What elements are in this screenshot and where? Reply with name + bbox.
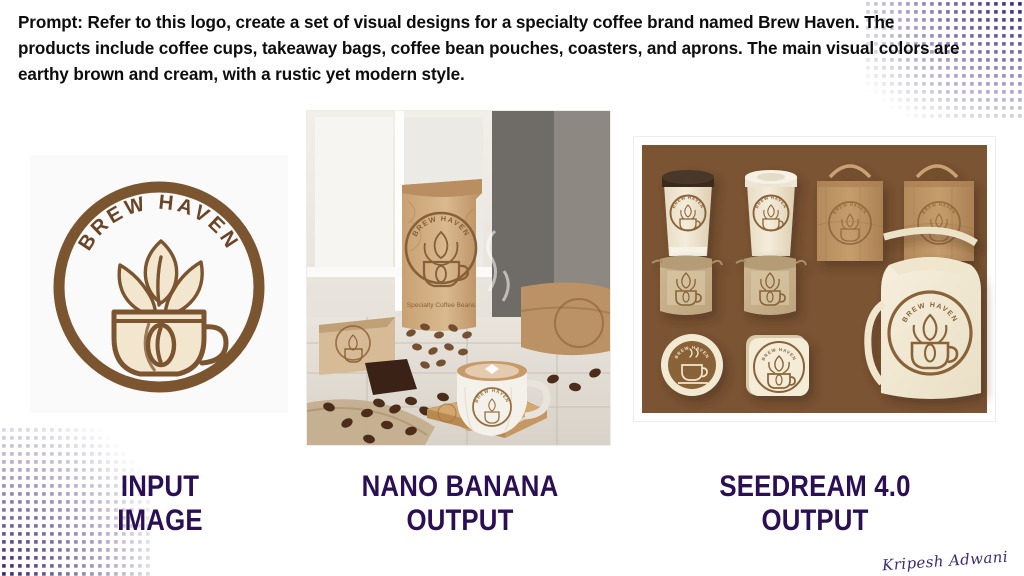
coffee-cup-white-lid: BREW HAVEN xyxy=(745,170,797,256)
bag-tagline: Specialty Coffee Beans xyxy=(407,302,476,309)
caption-seed-line2: OUTPUT xyxy=(686,504,944,538)
author-signature: Kripesh Adwani xyxy=(881,548,1008,575)
burlap-pouch-left xyxy=(652,256,722,316)
caption-input-line2: IMAGE xyxy=(74,504,246,538)
coffee-mockup-scene: BREW HAVEN Specialty Coffee Beans xyxy=(307,111,610,445)
square-coaster: BREW HAVEN xyxy=(746,335,809,396)
caption-nano-line1: NANO BANANA xyxy=(348,470,572,504)
coffee-cup-dark-lid: BREW HAVEN xyxy=(662,170,714,256)
caption-input-image: INPUT IMAGE xyxy=(74,470,246,537)
nano-banana-output-panel: BREW HAVEN Specialty Coffee Beans xyxy=(307,111,610,445)
seedream-output-panel: BREW HAVEN BREW HAVEN xyxy=(634,137,995,421)
brew-haven-logo: BREW HAVEN xyxy=(30,155,288,413)
caption-nano-line2: OUTPUT xyxy=(348,504,572,538)
burlap-pouch-right xyxy=(736,256,806,316)
caption-seed-line1: SEEDREAM 4.0 xyxy=(686,470,944,504)
brand-flatlay-grid: BREW HAVEN BREW HAVEN xyxy=(634,137,995,421)
caption-input-line1: INPUT xyxy=(74,470,246,504)
caption-nano-banana: NANO BANANA OUTPUT xyxy=(348,470,572,537)
input-image-panel: BREW HAVEN xyxy=(30,155,288,413)
caption-seedream: SEEDREAM 4.0 OUTPUT xyxy=(686,470,944,537)
prompt-text: Prompt: Refer to this logo, create a set… xyxy=(18,10,968,88)
round-coaster: BREW HAVEN xyxy=(661,334,723,396)
